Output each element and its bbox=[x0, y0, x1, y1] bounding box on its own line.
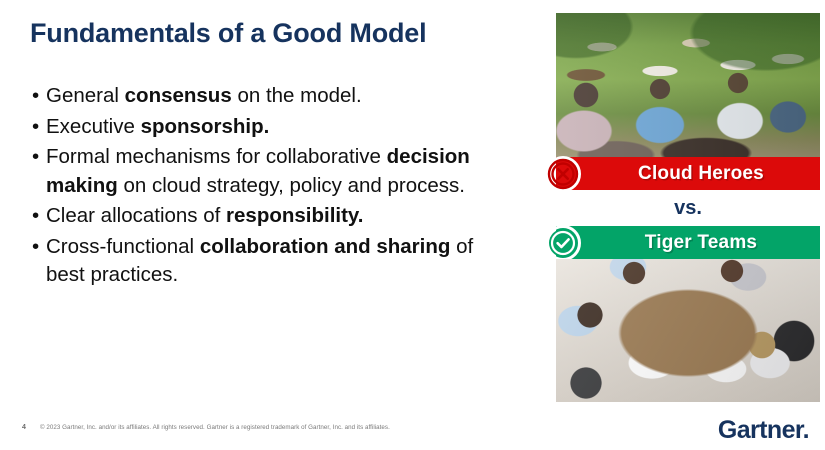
vs-divider-label: vs. bbox=[556, 190, 820, 226]
cloud-heroes-label: Cloud Heroes bbox=[612, 163, 764, 185]
x-circle-icon bbox=[545, 156, 581, 192]
gartner-logo-mark: . bbox=[803, 416, 809, 444]
bullet-item-3: •Formal mechanisms for collaborative dec… bbox=[30, 143, 500, 200]
page-number: 4 bbox=[22, 424, 26, 431]
bullet-text: Formal mechanisms for collaborative deci… bbox=[46, 145, 470, 197]
bullet-text: Clear allocations of responsibility. bbox=[46, 204, 364, 227]
bullet-text: General consensus on the model. bbox=[46, 84, 362, 107]
cloud-heroes-banner: Cloud Heroes bbox=[556, 157, 820, 190]
tiger-teams-photo bbox=[556, 259, 820, 402]
check-circle-icon bbox=[545, 225, 581, 261]
tiger-teams-label: Tiger Teams bbox=[619, 232, 757, 254]
gartner-logo-text: Gartner bbox=[718, 416, 803, 444]
gartner-logo: Gartner. bbox=[718, 416, 809, 445]
copyright-notice: © 2023 Gartner, Inc. and/or its affiliat… bbox=[40, 424, 390, 431]
bullet-marker: • bbox=[32, 82, 39, 111]
tiger-teams-banner: Tiger Teams bbox=[556, 226, 820, 259]
bullet-item-5: •Cross-functional collaboration and shar… bbox=[30, 233, 500, 290]
bullet-text: Executive sponsorship. bbox=[46, 115, 269, 138]
bullet-marker: • bbox=[32, 143, 39, 172]
bullet-list: •General consensus on the model.•Executi… bbox=[30, 82, 500, 292]
slide: Fundamentals of a Good Model •General co… bbox=[0, 0, 825, 450]
bullet-text: Cross-functional collaboration and shari… bbox=[46, 235, 473, 287]
bullet-marker: • bbox=[32, 202, 39, 231]
bullet-marker: • bbox=[32, 233, 39, 262]
horseback-riders-image bbox=[556, 13, 820, 157]
comparison-panel: Cloud Heroes vs. Tiger Teams bbox=[556, 13, 820, 402]
bullet-item-4: •Clear allocations of responsibility. bbox=[30, 202, 500, 231]
cloud-heroes-photo bbox=[556, 13, 820, 157]
team-meeting-image bbox=[556, 259, 820, 402]
bullet-item-1: •General consensus on the model. bbox=[30, 82, 500, 111]
page-title: Fundamentals of a Good Model bbox=[30, 18, 426, 49]
bullet-marker: • bbox=[32, 113, 39, 142]
bullet-item-2: •Executive sponsorship. bbox=[30, 113, 500, 142]
